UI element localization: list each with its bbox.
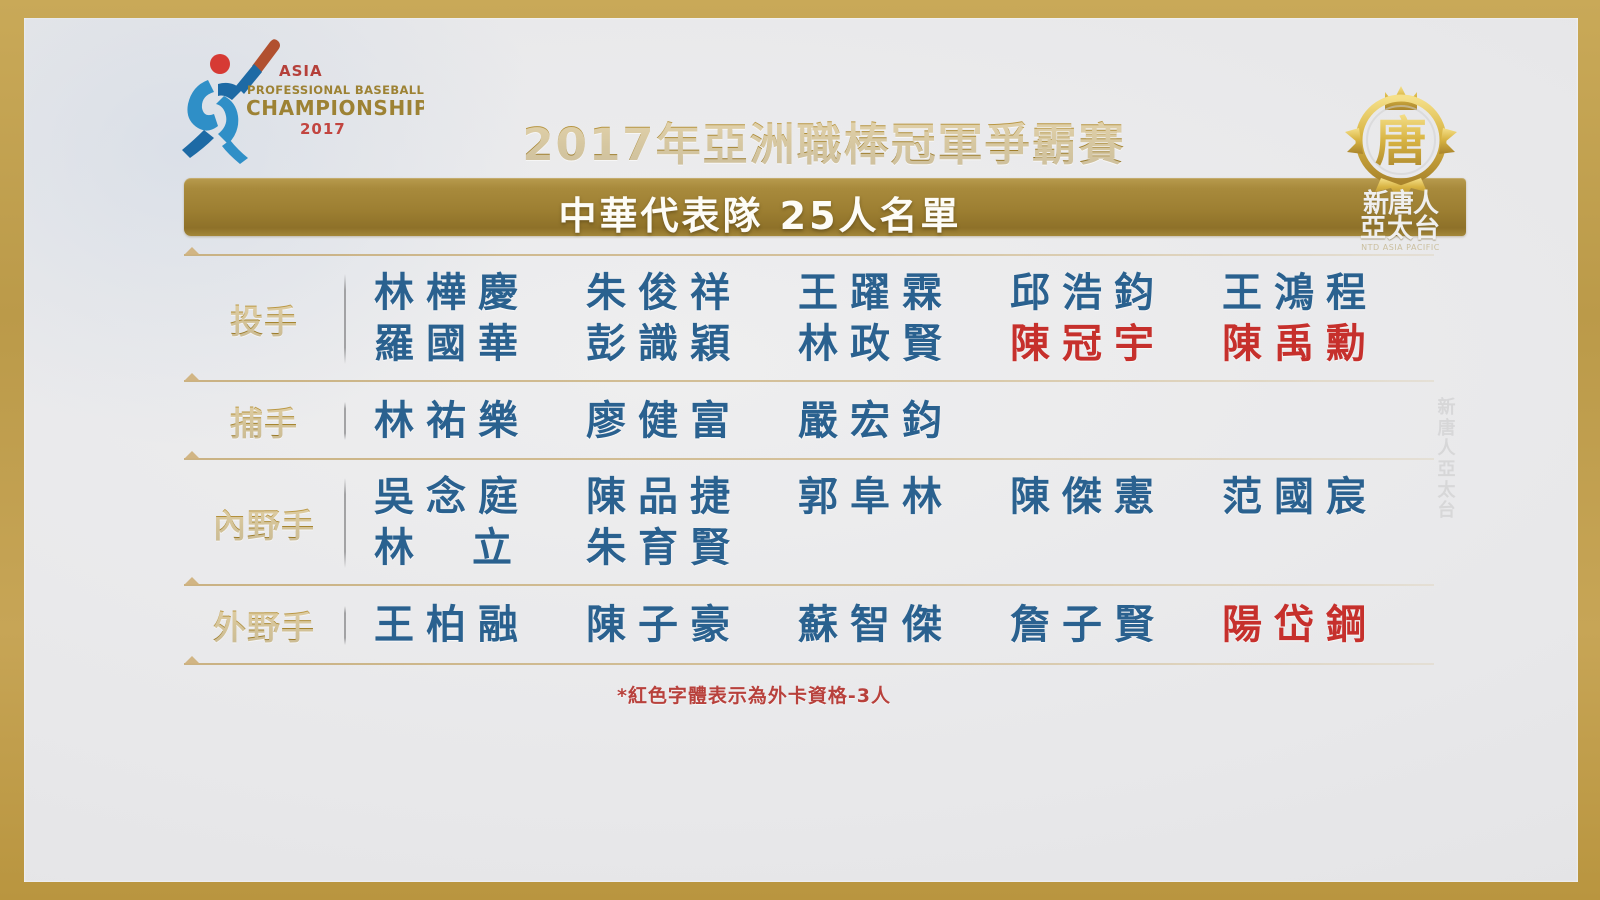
network-name-line2: 亞太台 xyxy=(1328,217,1473,242)
divider-bottom xyxy=(184,663,1434,665)
player-name: 嚴宏鈞 xyxy=(798,396,1010,447)
roster-group-catchers: 捕手 林祐樂 廖健富 嚴宏鈞 xyxy=(24,382,1600,459)
panel-frame: ASIA PROFESSIONAL BASEBALL CHAMPIONSHIP … xyxy=(24,18,1578,882)
player-name: 陳傑憲 xyxy=(1010,472,1222,523)
triangle-marker-icon xyxy=(184,247,200,255)
triangle-marker-icon xyxy=(184,373,200,381)
player-name: 范國宸 xyxy=(1222,472,1434,523)
player-name: 王柏融 xyxy=(374,600,586,651)
group-label-infielders: 內野手 xyxy=(184,499,344,547)
player-name-wildcard: 陳冠宇 xyxy=(1010,319,1222,370)
names-pitchers: 林樺慶 朱俊祥 王躍霖 邱浩鈞 王鴻程 羅國華 彭識穎 林政賢 陳冠宇 陳禹勳 xyxy=(346,268,1600,370)
roster-group-pitchers: 投手 林樺慶 朱俊祥 王躍霖 邱浩鈞 王鴻程 羅國華 彭識穎 林政賢 陳冠宇 xyxy=(24,256,1600,380)
player-name: 林立 xyxy=(374,523,586,574)
divider-pitchers-catchers xyxy=(184,380,1434,382)
seal-character: 唐 xyxy=(1374,113,1426,173)
triangle-marker-icon xyxy=(184,451,200,459)
names-catchers: 林祐樂 廖健富 嚴宏鈞 xyxy=(346,396,1600,447)
group-label-catchers: 捕手 xyxy=(184,397,344,445)
triangle-marker-icon xyxy=(184,656,200,664)
player-name: 陳品捷 xyxy=(586,472,798,523)
player-name: 王鴻程 xyxy=(1222,268,1434,319)
roster-table: 投手 林樺慶 朱俊祥 王躍霖 邱浩鈞 王鴻程 羅國華 彭識穎 林政賢 陳冠宇 xyxy=(24,254,1600,708)
name-row: 林立 朱育賢 xyxy=(374,523,1600,574)
divider-top xyxy=(184,254,1434,256)
player-name-wildcard: 陳禹勳 xyxy=(1222,319,1434,370)
player-name: 林政賢 xyxy=(798,319,1010,370)
player-name: 廖健富 xyxy=(586,396,798,447)
player-name: 朱俊祥 xyxy=(586,268,798,319)
name-row: 羅國華 彭識穎 林政賢 陳冠宇 陳禹勳 xyxy=(374,319,1600,370)
triangle-marker-icon xyxy=(184,577,200,585)
logo-line-asia: ASIA xyxy=(279,62,323,80)
network-name-en: NTD ASIA PACIFIC xyxy=(1328,243,1473,252)
player-name: 蘇智傑 xyxy=(798,600,1010,651)
network-name-cn: 新唐人 亞太台 xyxy=(1328,192,1473,242)
roster-group-outfielders: 外野手 王柏融 陳子豪 蘇智傑 詹子賢 陽岱鋼 xyxy=(24,586,1600,663)
player-name: 彭識穎 xyxy=(586,319,798,370)
player-name: 林祐樂 xyxy=(374,396,586,447)
page-title: 2017年亞洲職棒冠軍爭霸賽 xyxy=(444,108,1204,173)
broadcast-graphic-screen: ASIA PROFESSIONAL BASEBALL CHAMPIONSHIP … xyxy=(0,0,1600,900)
player-name: 王躍霖 xyxy=(798,268,1010,319)
player-name: 郭阜林 xyxy=(798,472,1010,523)
divider-infielders-outfielders xyxy=(184,584,1434,586)
name-row: 王柏融 陳子豪 蘇智傑 詹子賢 陽岱鋼 xyxy=(374,600,1600,651)
player-name: 吳念庭 xyxy=(374,472,586,523)
subtitle-bar: 中華代表隊 25人名單 xyxy=(184,178,1466,236)
wildcard-footnote: *紅色字體表示為外卡資格-3人 xyxy=(24,681,1600,708)
player-name: 羅國華 xyxy=(374,319,586,370)
subtitle-text: 中華代表隊 25人名單 xyxy=(184,185,1466,240)
player-name-wildcard: 陽岱鋼 xyxy=(1222,600,1434,651)
group-label-pitchers: 投手 xyxy=(184,295,344,343)
names-outfielders: 王柏融 陳子豪 蘇智傑 詹子賢 陽岱鋼 xyxy=(346,600,1600,651)
roster-group-infielders: 內野手 吳念庭 陳品捷 郭阜林 陳傑憲 范國宸 林立 朱育賢 xyxy=(24,460,1600,584)
name-row: 林祐樂 廖健富 嚴宏鈞 xyxy=(374,396,1600,447)
baseball-batter-logo: ASIA PROFESSIONAL BASEBALL CHAMPIONSHIP … xyxy=(174,34,424,164)
player-name: 詹子賢 xyxy=(1010,600,1222,651)
ntd-seal-logo: 唐 新唐人 亞太台 NTD ASIA PACIFIC xyxy=(1328,80,1473,255)
player-name: 朱育賢 xyxy=(586,523,798,574)
logo-line-championship: CHAMPIONSHIP xyxy=(246,96,424,120)
player-name: 邱浩鈞 xyxy=(1010,268,1222,319)
name-row: 林樺慶 朱俊祥 王躍霖 邱浩鈞 王鴻程 xyxy=(374,268,1600,319)
divider-catchers-infielders xyxy=(184,458,1434,460)
names-infielders: 吳念庭 陳品捷 郭阜林 陳傑憲 范國宸 林立 朱育賢 xyxy=(346,472,1600,574)
logo-line-professional-baseball: PROFESSIONAL BASEBALL xyxy=(247,83,424,97)
group-label-outfielders: 外野手 xyxy=(184,601,344,649)
logo-line-year: 2017 xyxy=(300,120,346,138)
player-name: 陳子豪 xyxy=(586,600,798,651)
name-row: 吳念庭 陳品捷 郭阜林 陳傑憲 范國宸 xyxy=(374,472,1600,523)
player-name: 林樺慶 xyxy=(374,268,586,319)
